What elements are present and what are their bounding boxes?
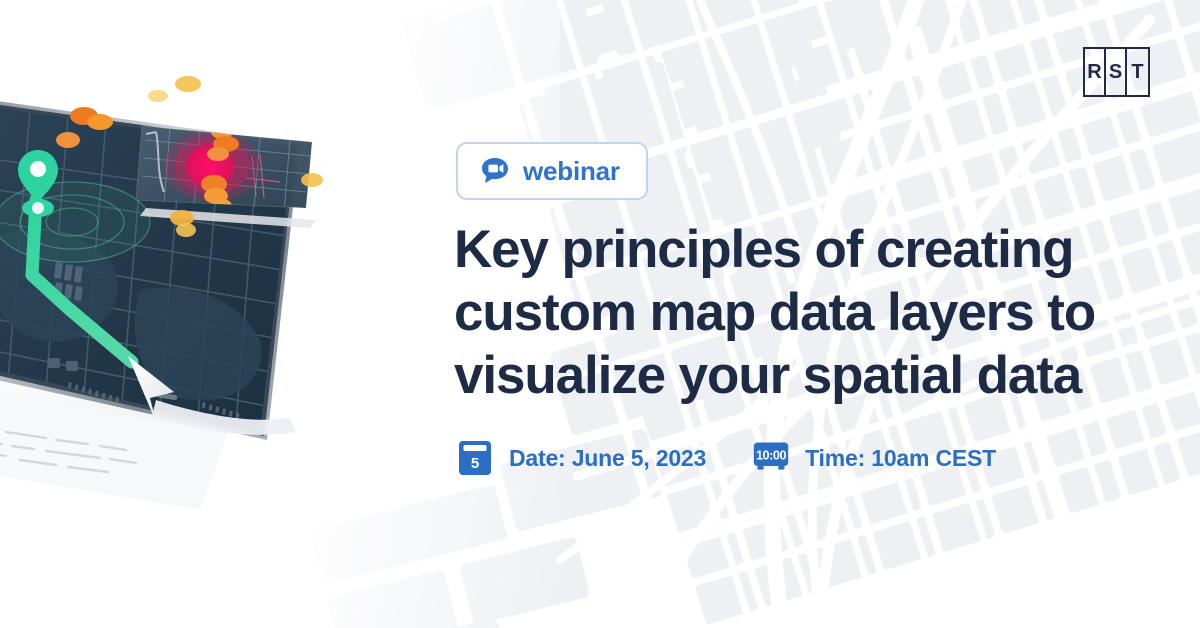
clock-time-readout: 10:00: [756, 449, 787, 463]
calendar-day-number: 5: [471, 455, 479, 472]
page-title: Key principles of creating custom map da…: [454, 218, 1134, 407]
video-chat-bubble-icon: [480, 156, 510, 186]
logo-letter-r: R: [1085, 49, 1106, 95]
webinar-banner: R S T: [0, 0, 1200, 628]
title-line-2: custom map data layers to: [454, 281, 1134, 344]
event-date-label: Date: June 5, 2023: [509, 445, 706, 472]
digital-clock-icon: 10:00: [752, 438, 790, 478]
event-time: 10:00 Time: 10am CEST: [752, 438, 996, 478]
rst-logo: R S T: [1083, 47, 1150, 97]
event-date: 5 Date: June 5, 2023: [456, 438, 706, 478]
logo-letter-t: T: [1127, 49, 1148, 95]
title-line-3: visualize your spatial data: [454, 344, 1134, 407]
event-time-label: Time: 10am CEST: [805, 445, 996, 472]
calendar-icon: 5: [456, 438, 494, 478]
tablet-map-layers-illustration: [0, 40, 430, 580]
webinar-badge: webinar: [456, 142, 648, 200]
title-line-1: Key principles of creating: [454, 218, 1134, 281]
logo-letter-s: S: [1106, 49, 1127, 95]
event-meta-row: 5 Date: June 5, 2023 10:00 Time: 10am CE…: [456, 438, 996, 478]
webinar-badge-label: webinar: [523, 158, 620, 184]
content-column: webinar Key principles of creating custo…: [454, 0, 1154, 628]
location-pin-marker: [18, 150, 58, 217]
